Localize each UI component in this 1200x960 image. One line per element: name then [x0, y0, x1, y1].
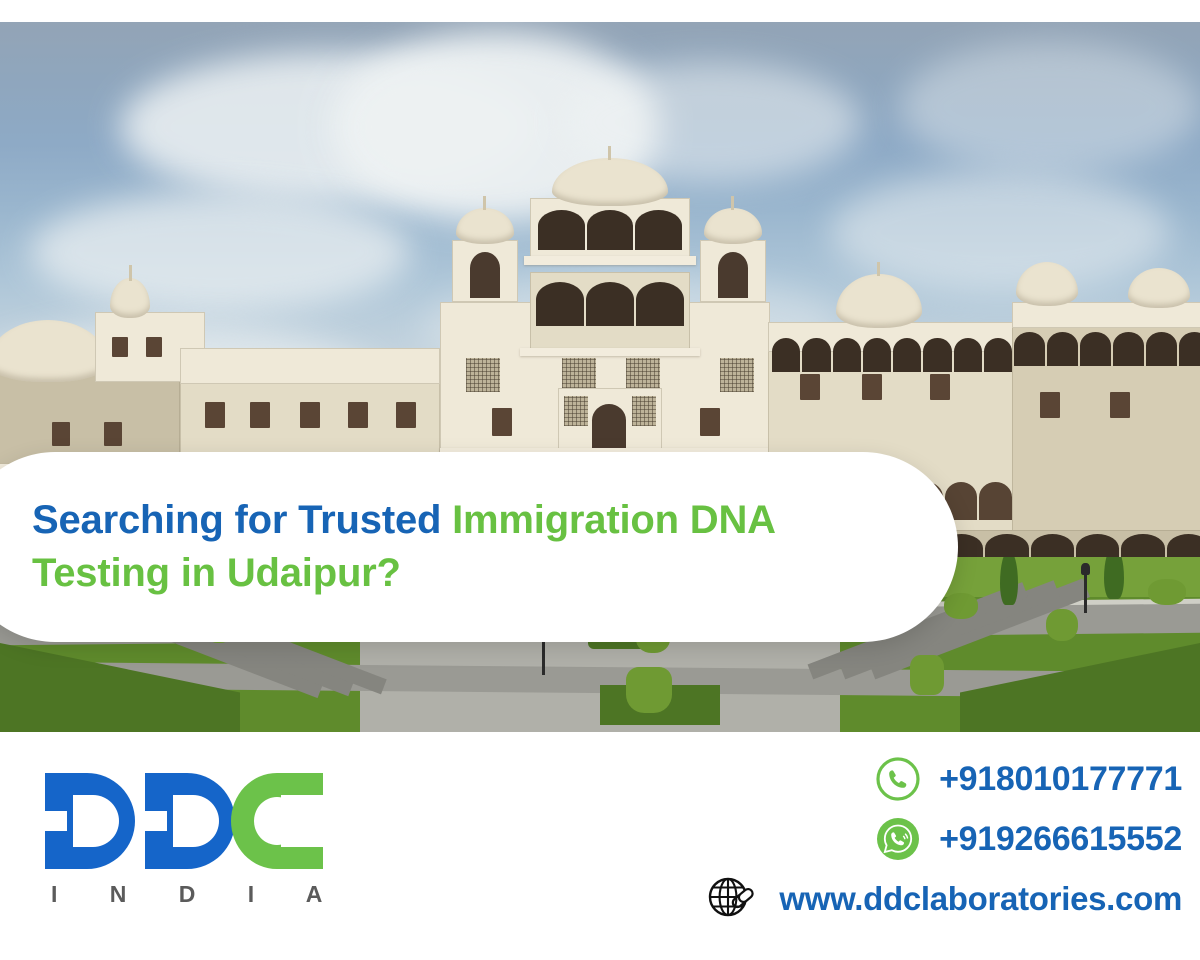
palace-dome [1016, 262, 1078, 306]
shrub [626, 667, 672, 713]
palace-window [146, 337, 162, 357]
palace-block [180, 348, 440, 384]
headline-line-2: Testing in Udaipur? [32, 547, 958, 600]
palace-window [250, 402, 270, 428]
contact-row-phone[interactable]: +918010177771 [542, 749, 1182, 809]
palace-dome [110, 278, 150, 318]
logo-letter-c [231, 773, 323, 869]
contact-row-whatsapp[interactable]: +919266615552 [542, 809, 1182, 869]
palace-window [470, 252, 500, 298]
contact-block: +918010177771 +919266615552 [542, 749, 1182, 929]
palace-window [592, 404, 626, 450]
top-white-margin [0, 0, 1200, 22]
palace-dome [836, 274, 922, 328]
logo-letter-d-2 [145, 773, 235, 869]
footer-bar: I N D I A +918010177771 +9192666 [0, 733, 1200, 960]
globe-link-icon [703, 872, 757, 926]
promotional-banner: Searching for Trusted Immigration DNA Te… [0, 0, 1200, 960]
palace-finial [877, 262, 880, 276]
palace-window [1110, 392, 1130, 418]
palace-window [492, 408, 512, 436]
palace-finial [608, 146, 611, 160]
logo-letter-d-1 [45, 773, 135, 869]
whatsapp-number: +919266615552 [939, 820, 1182, 859]
logo-subtitle: I N D I A [45, 881, 355, 908]
palace-window [1040, 392, 1060, 418]
palace-window [300, 402, 320, 428]
palace-finial [129, 265, 132, 281]
palace-jali-screen [564, 396, 588, 426]
palace-finial [731, 196, 734, 210]
palace-chhatri-arcade [538, 210, 682, 250]
headline-green-text-2: Testing in Udaipur? [32, 551, 401, 595]
palace-window [862, 374, 882, 400]
palace-dome-main [552, 158, 668, 206]
shrub [1148, 579, 1186, 605]
headline-blue-text: Searching for Trusted [32, 498, 452, 542]
contact-row-website[interactable]: www.ddclaboratories.com [542, 869, 1182, 929]
palace-window [52, 422, 70, 446]
shrub [910, 655, 944, 695]
palace-window [700, 408, 720, 436]
palace-dome [0, 320, 108, 382]
headline-card: Searching for Trusted Immigration DNA Te… [0, 452, 958, 642]
ddc-india-logo[interactable]: I N D I A [45, 773, 355, 908]
palace-jali-screen [466, 358, 500, 392]
palace-jali-screen [632, 396, 656, 426]
headline-line-1: Searching for Trusted Immigration DNA [32, 494, 958, 547]
cypress-tree [1104, 557, 1124, 599]
whatsapp-icon [875, 816, 921, 862]
phone-number: +918010177771 [939, 760, 1182, 799]
palace-balcony-arcade [536, 282, 684, 326]
palace-window [718, 252, 748, 298]
lamp-head [1081, 563, 1090, 575]
headline-green-text: Immigration DNA [452, 498, 776, 542]
palace-window [112, 337, 128, 357]
palace-cornice [520, 348, 700, 356]
palace-dome [1128, 268, 1190, 308]
shrub [1046, 609, 1078, 641]
palace-window [205, 402, 225, 428]
palace-window [930, 374, 950, 400]
palace-jali-screen [562, 358, 596, 392]
palace-arcade [1014, 332, 1200, 366]
palace-window [104, 422, 122, 446]
lamp-post [1084, 573, 1087, 613]
logo-letters [45, 773, 355, 869]
palace-window [800, 374, 820, 400]
cypress-tree [1000, 557, 1018, 605]
palace-dome [456, 208, 514, 244]
palace-window [348, 402, 368, 428]
palace-jali-screen [720, 358, 754, 392]
palace-finial [483, 196, 486, 210]
palace-window [396, 402, 416, 428]
phone-circle-icon [875, 756, 921, 802]
palace-jali-screen [626, 358, 660, 392]
palace-arcade [772, 338, 1012, 372]
palace-cornice [524, 256, 696, 265]
palace-dome [704, 208, 762, 244]
website-url: www.ddclaboratories.com [779, 880, 1182, 918]
